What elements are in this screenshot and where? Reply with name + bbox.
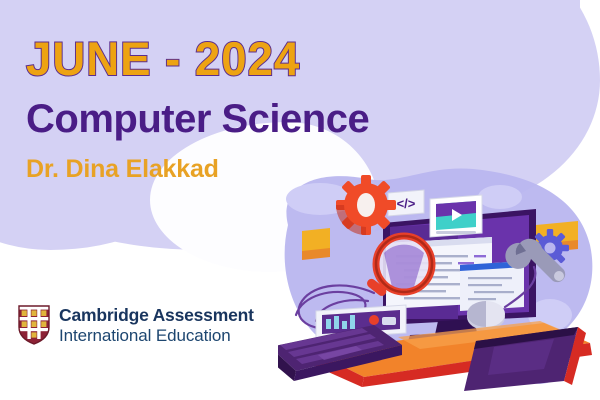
logo-primary-line: Cambridge Assessment xyxy=(59,305,254,325)
month-year-heading: JUNE - 2024 xyxy=(26,34,482,84)
gear-red-icon xyxy=(336,175,396,235)
title-block: JUNE - 2024 Computer Science Dr. Dina El… xyxy=(26,34,496,184)
subject-heading: Computer Science xyxy=(26,96,496,142)
cambridge-logo-text: Cambridge Assessment International Educa… xyxy=(59,307,254,344)
computer-workstation-illustration: </> xyxy=(278,165,600,400)
lecture-title-slide: JUNE - 2024 Computer Science Dr. Dina El… xyxy=(0,0,600,400)
cambridge-logo: Cambridge Assessment International Educa… xyxy=(18,305,254,345)
cambridge-crest-icon xyxy=(18,305,50,345)
logo-secondary-line: International Education xyxy=(59,327,254,344)
svg-text:</>: </> xyxy=(397,196,416,211)
sticky-note-left xyxy=(302,228,330,260)
video-card-icon xyxy=(430,195,482,237)
